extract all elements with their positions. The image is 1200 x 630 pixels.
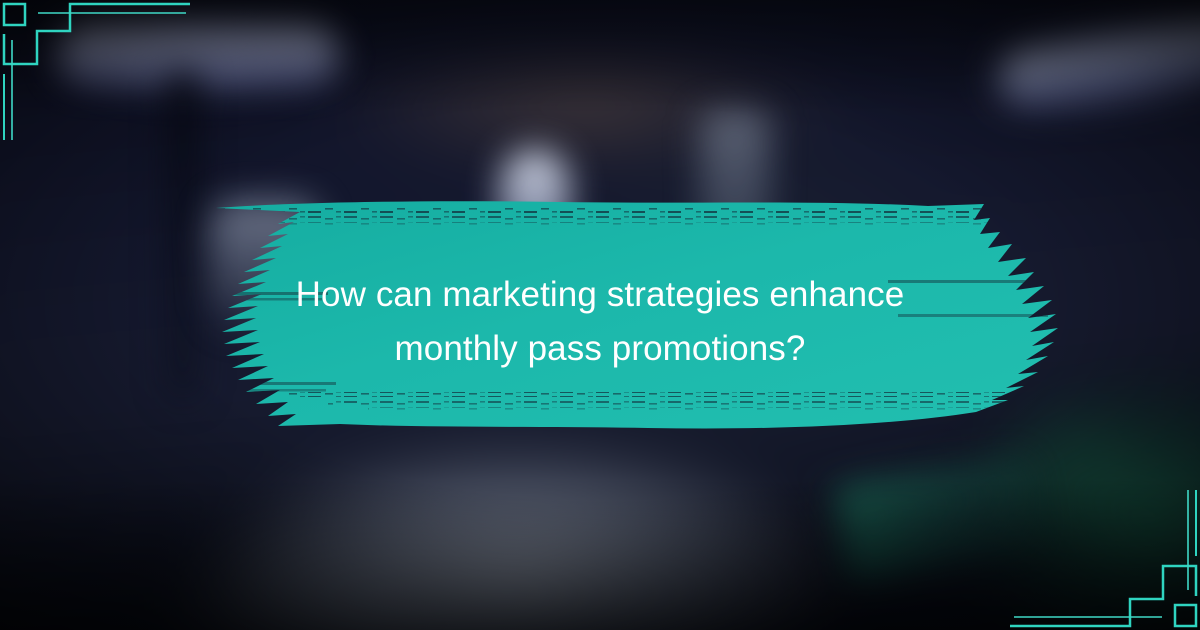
share-card: How can marketing strategies enhance mon… (0, 0, 1200, 630)
headline-text: How can marketing strategies enhance mon… (190, 268, 1010, 376)
